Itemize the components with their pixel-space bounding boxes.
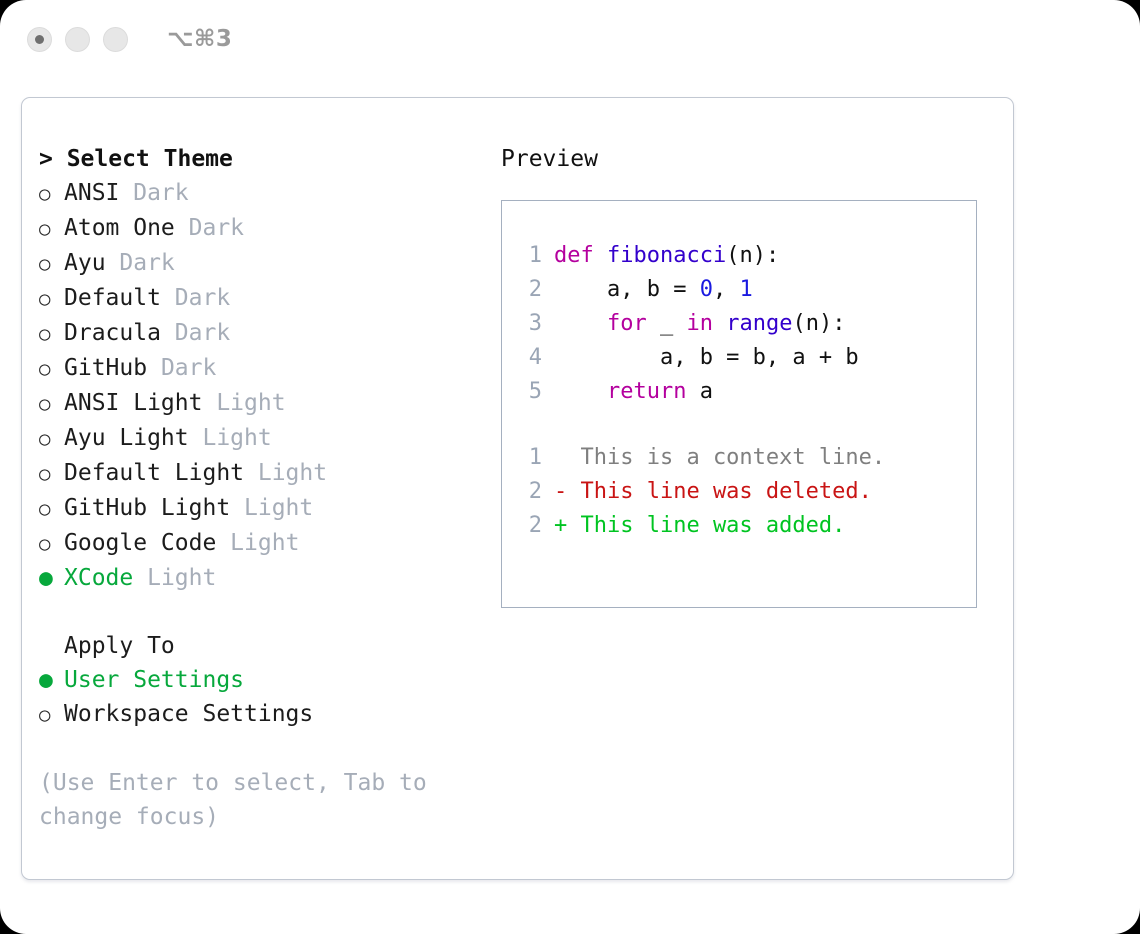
theme-option-google-code[interactable]: ○Google Code Light [39, 526, 501, 561]
select-theme-header: > Select Theme [39, 142, 501, 176]
recording-indicator [35, 35, 44, 44]
line-number: 3 [516, 307, 542, 341]
code-token: a, b = [554, 277, 700, 302]
theme-variant-tag: Light [202, 390, 285, 416]
code-token: 1 [739, 277, 752, 302]
apply-to-option-workspace-settings[interactable]: ○Workspace Settings [39, 697, 501, 732]
theme-variant-tag: Light [133, 565, 216, 591]
theme-variant-tag: Dark [147, 355, 216, 381]
keyboard-hint: (Use Enter to select, Tab to change focu… [39, 766, 459, 834]
diff-line: 1 This is a context line. [516, 441, 976, 475]
recording-dot-icon[interactable] [27, 27, 52, 52]
theme-variant-tag: Dark [161, 320, 230, 346]
line-number: 2 [516, 509, 542, 543]
radio-unselected-icon: ○ [39, 352, 64, 386]
code-token: , [713, 277, 740, 302]
line-number: 1 [516, 441, 542, 475]
radio-unselected-icon: ○ [39, 282, 64, 316]
code-token: _ [647, 311, 687, 336]
code-token: (n): [792, 311, 845, 336]
theme-name: ANSI [64, 180, 119, 206]
code-token [713, 311, 726, 336]
code-token [594, 243, 607, 268]
preview-panel: 1def fibonacci(n):2 a, b = 0, 13 for _ i… [501, 200, 977, 608]
theme-name: XCode [64, 565, 133, 591]
line-number: 2 [516, 273, 542, 307]
theme-variant-tag: Light [216, 530, 299, 556]
radio-selected-icon: ● [39, 561, 64, 595]
theme-option-default[interactable]: ○Default Dark [39, 281, 501, 316]
theme-name: Ayu [64, 250, 106, 276]
diff-line: 2- This line was deleted. [516, 475, 976, 509]
theme-name: GitHub Light [64, 495, 230, 521]
theme-option-ansi-light[interactable]: ○ANSI Light Light [39, 386, 501, 421]
settings-card: > Select Theme ○ANSI Dark○Atom One Dark○… [21, 97, 1014, 880]
theme-variant-tag: Light [189, 425, 272, 451]
code-line: 4 a, b = b, a + b [516, 341, 976, 375]
theme-variant-tag: Dark [106, 250, 175, 276]
theme-selection-column: > Select Theme ○ANSI Dark○Atom One Dark○… [39, 142, 501, 879]
code-line: 5 return a [516, 375, 976, 409]
diff-text: + This line was added. [554, 513, 845, 538]
code-line: 3 for _ in range(n): [516, 307, 976, 341]
radio-unselected-icon: ○ [39, 422, 64, 456]
radio-unselected-icon: ○ [39, 492, 64, 526]
code-token: in [686, 311, 713, 336]
window-controls [27, 27, 128, 52]
theme-name: GitHub [64, 355, 147, 381]
app-window: ⌥⌘3 > Select Theme ○ANSI Dark○Atom One D… [0, 0, 1140, 934]
theme-variant-tag: Light [244, 460, 327, 486]
radio-unselected-icon: ○ [39, 212, 64, 246]
apply-to-option-user-settings[interactable]: ●User Settings [39, 663, 501, 697]
code-token: for [607, 311, 647, 336]
preview-title: Preview [501, 142, 1013, 176]
diff-line: 2+ This line was added. [516, 509, 976, 543]
diff-text: This is a context line. [554, 445, 885, 470]
radio-unselected-icon: ○ [39, 387, 64, 421]
code-line: 2 a, b = 0, 1 [516, 273, 976, 307]
theme-option-ayu[interactable]: ○Ayu Dark [39, 246, 501, 281]
radio-unselected-icon: ○ [39, 177, 64, 211]
code-token: def [554, 243, 594, 268]
code-token: a, b = b, a + b [554, 345, 859, 370]
theme-variant-tag: Light [230, 495, 313, 521]
diff-text: - This line was deleted. [554, 479, 872, 504]
line-number: 4 [516, 341, 542, 375]
theme-option-github[interactable]: ○GitHub Dark [39, 351, 501, 386]
radio-unselected-icon: ○ [39, 457, 64, 491]
theme-option-ayu-light[interactable]: ○Ayu Light Light [39, 421, 501, 456]
theme-name: ANSI Light [64, 390, 202, 416]
code-token: (n): [726, 243, 779, 268]
line-number: 5 [516, 375, 542, 409]
theme-list[interactable]: ○ANSI Dark○Atom One Dark○Ayu Dark○Defaul… [39, 176, 501, 595]
radio-unselected-icon: ○ [39, 698, 64, 732]
keyboard-shortcut-label: ⌥⌘3 [167, 26, 232, 52]
line-number: 2 [516, 475, 542, 509]
radio-unselected-icon: ○ [39, 527, 64, 561]
theme-name: Google Code [64, 530, 216, 556]
radio-unselected-icon: ○ [39, 317, 64, 351]
apply-to-label: Apply To [39, 629, 501, 663]
theme-variant-tag: Dark [161, 285, 230, 311]
theme-variant-tag: Dark [119, 180, 188, 206]
apply-to-name: User Settings [64, 667, 244, 693]
code-line: 1def fibonacci(n): [516, 239, 976, 273]
code-sample: 1def fibonacci(n):2 a, b = 0, 13 for _ i… [516, 239, 976, 409]
radio-unselected-icon: ○ [39, 247, 64, 281]
code-token [554, 379, 607, 404]
code-token [554, 311, 607, 336]
window-dot-2-icon[interactable] [65, 27, 90, 52]
line-number: 1 [516, 239, 542, 273]
theme-name: Atom One [64, 215, 175, 241]
apply-to-list[interactable]: ●User Settings○Workspace Settings [39, 663, 501, 732]
radio-selected-icon: ● [39, 663, 64, 697]
title-bar: ⌥⌘3 [0, 0, 1140, 78]
theme-option-atom-one[interactable]: ○Atom One Dark [39, 211, 501, 246]
code-token: return [607, 379, 686, 404]
apply-to-name: Workspace Settings [64, 701, 313, 727]
theme-name: Dracula [64, 320, 161, 346]
code-token: fibonacci [607, 243, 726, 268]
diff-sample: 1 This is a context line.2- This line wa… [516, 441, 976, 543]
theme-option-ansi[interactable]: ○ANSI Dark [39, 176, 501, 211]
theme-variant-tag: Dark [175, 215, 244, 241]
theme-option-xcode[interactable]: ●XCode Light [39, 561, 501, 595]
code-token: range [726, 311, 792, 336]
window-dot-3-icon[interactable] [103, 27, 128, 52]
preview-column: Preview 1def fibonacci(n):2 a, b = 0, 13… [501, 142, 1013, 879]
code-token: a [686, 379, 713, 404]
theme-name: Default [64, 285, 161, 311]
theme-option-dracula[interactable]: ○Dracula Dark [39, 316, 501, 351]
theme-option-default-light[interactable]: ○Default Light Light [39, 456, 501, 491]
theme-name: Ayu Light [64, 425, 189, 451]
theme-name: Default Light [64, 460, 244, 486]
code-token: 0 [700, 277, 713, 302]
theme-option-github-light[interactable]: ○GitHub Light Light [39, 491, 501, 526]
